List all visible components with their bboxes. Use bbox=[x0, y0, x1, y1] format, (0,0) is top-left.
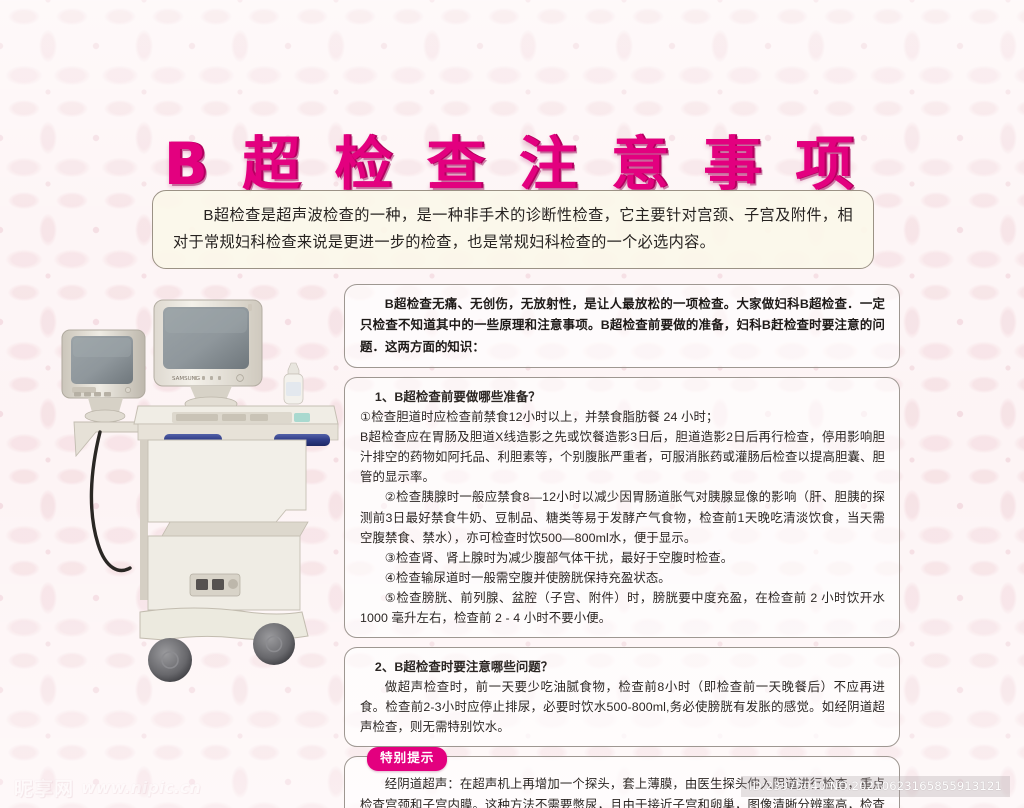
footer-watermark-bar: 昵享网 www.nipic.cn ID:23975040 NO:20210623… bbox=[0, 762, 1024, 808]
main-monitor: SAMSUNG bbox=[154, 300, 262, 411]
section-1-item-5: ⑤检查膀胱、前列腺、盆腔（子宫、附件）时，膀胱要中度充盈，在检查前 2 小时饮开… bbox=[360, 588, 885, 628]
section-2-panel: 2、B超检查时要注意哪些问题？ 做超声检查时，前一天要少吃油腻食物，检查前8小时… bbox=[344, 647, 900, 747]
section-1-heading: 1、B超检查前要做哪些准备？ bbox=[360, 387, 885, 407]
poster-canvas: B 超 检 查 注 意 事 项 B超检查是超声波检查的一种，是一种非手术的诊断性… bbox=[0, 0, 1024, 808]
content-column: B超检查无痛、无创伤，无放射性，是让人最放松的一项检查。大家做妇科B超检查．一定… bbox=[344, 284, 900, 808]
site-url: www.nipic.cn bbox=[81, 778, 201, 797]
section-1-item-3: ③检查肾、肾上腺时为减少腹部气体干扰，最好于空腹时检查。 bbox=[360, 548, 885, 568]
secondary-monitor bbox=[62, 330, 145, 422]
overview-panel: B超检查无痛、无创伤，无放射性，是让人最放松的一项检查。大家做妇科B超检查．一定… bbox=[344, 284, 900, 368]
gel-bottle bbox=[284, 363, 303, 404]
cart-body bbox=[140, 440, 308, 610]
ultrasound-machine-illustration: SAMSUNG bbox=[42, 282, 342, 700]
section-2-heading: 2、B超检查时要注意哪些问题？ bbox=[360, 657, 885, 677]
section-1-item-4: ④检查输尿道时一般需空腹并使膀胱保持充盈状态。 bbox=[360, 568, 885, 588]
section-1-panel: 1、B超检查前要做哪些准备？ ①检查胆道时应检查前禁食12小时以上，并禁食脂肪餐… bbox=[344, 377, 900, 638]
section-1-item-2: ②检查胰腺时一般应禁食8—12小时以减少因胃肠道胀气对胰腺显像的影响（肝、胆胰的… bbox=[360, 487, 885, 547]
section-1-item-1: ①检查胆道时应检查前禁食12小时以上，并禁食脂肪餐 24 小时； bbox=[360, 407, 885, 427]
section-2-item-1: 做超声检查时，前一天要少吃油腻食物，检查前8小时（即检查前一天晚餐后）不应再进食… bbox=[360, 677, 885, 737]
image-id-chip: ID:23975040 NO:20210623165855913121 bbox=[741, 776, 1010, 797]
page-title: B 超 检 查 注 意 事 项 bbox=[164, 135, 861, 193]
section-1-item-1b: B超检查应在胃肠及胆道X线造影之先或饮餐造影3日后，胆道造影2日后再行检查，停用… bbox=[360, 427, 885, 487]
ultrasound-machine-photo: SAMSUNG bbox=[42, 282, 342, 700]
intro-box: B超检查是超声波检查的一种，是一种非手术的诊断性检查，它主要针对宫颈、子宫及附件… bbox=[152, 190, 874, 269]
intro-text: B超检查是超声波检查的一种，是一种非手术的诊断性检查，它主要针对宫颈、子宫及附件… bbox=[173, 202, 853, 256]
site-watermark-logo: 昵享网 www.nipic.cn bbox=[14, 774, 201, 801]
site-name-cn: 昵享网 bbox=[14, 774, 74, 801]
overview-text: B超检查无痛、无创伤，无放射性，是让人最放松的一项检查。大家做妇科B超检查．一定… bbox=[360, 294, 885, 358]
